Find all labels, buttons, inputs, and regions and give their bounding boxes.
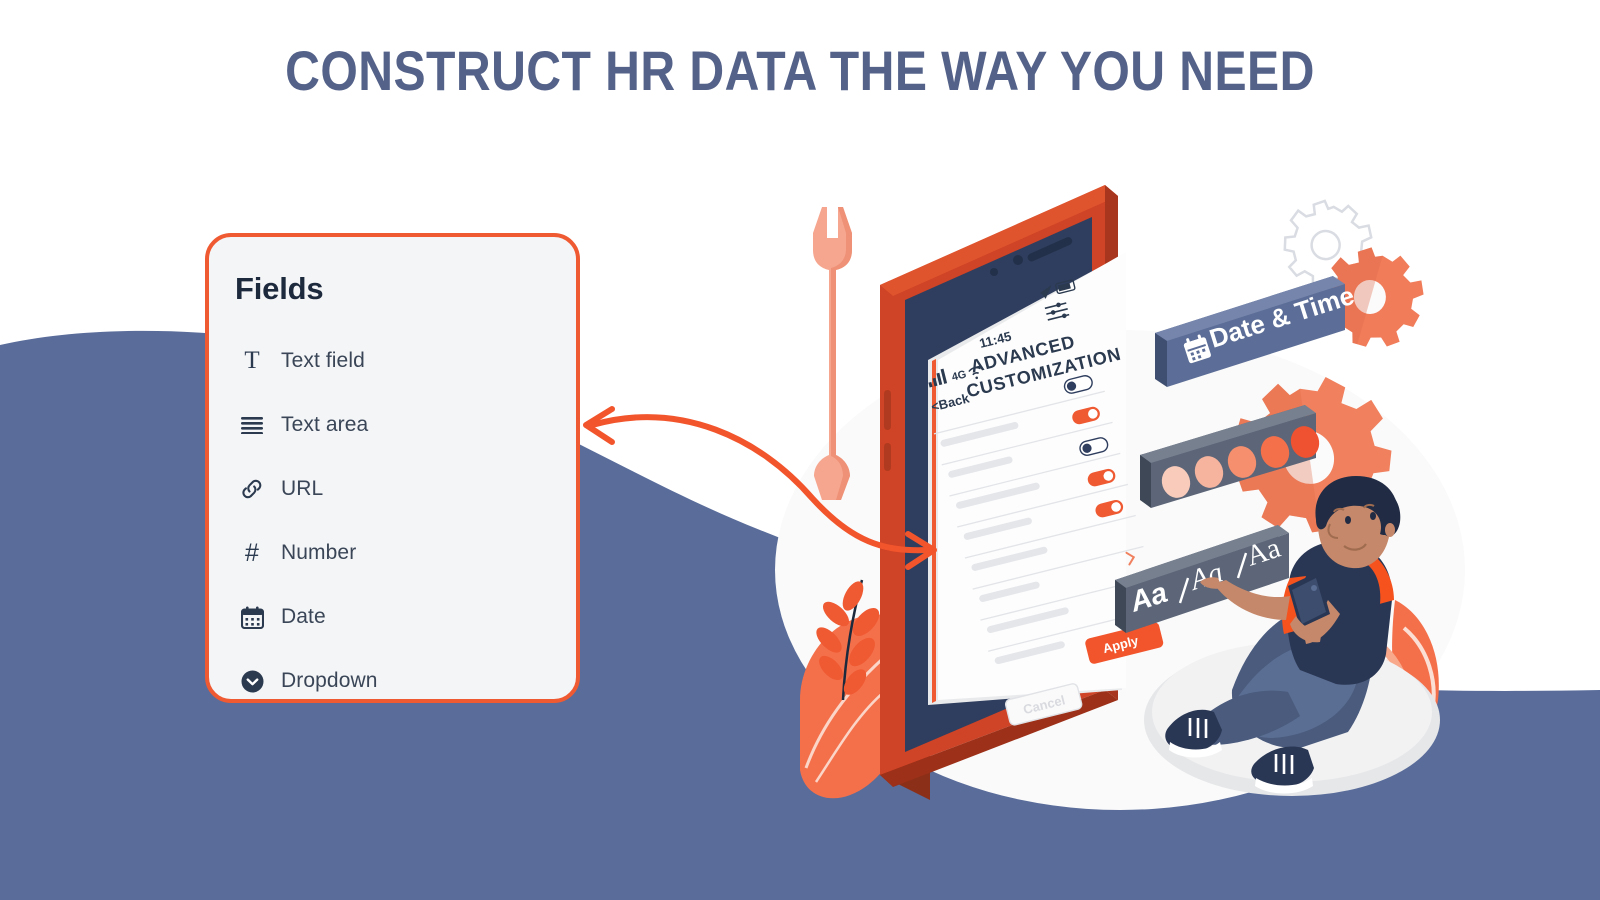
field-item-label: Dropdown — [281, 669, 378, 693]
field-item-url[interactable]: URL — [209, 457, 576, 521]
text-field-icon: T — [235, 347, 269, 375]
field-item-label: Number — [281, 541, 356, 565]
field-item-text-area[interactable]: Text area — [209, 393, 576, 457]
text-area-icon — [235, 416, 269, 434]
calendar-icon — [235, 606, 269, 629]
field-item-number[interactable]: # Number — [209, 521, 576, 585]
field-item-text-field[interactable]: T Text field — [209, 329, 576, 393]
fields-card-title: Fields — [209, 271, 576, 307]
field-item-dropdown[interactable]: Dropdown — [209, 649, 576, 713]
field-item-label: Text field — [281, 349, 365, 373]
poster-canvas: CONSTRUCT HR DATA THE WAY YOU NEED — [0, 0, 1600, 900]
eye — [1345, 516, 1351, 524]
chevron-down-circle-icon — [235, 670, 269, 693]
field-item-date[interactable]: Date — [209, 585, 576, 649]
fields-card[interactable]: Fields T Text field Text area — [205, 233, 580, 703]
link-icon — [235, 478, 269, 500]
field-item-label: Text area — [281, 413, 368, 437]
page-title: CONSTRUCT HR DATA THE WAY YOU NEED — [112, 38, 1488, 103]
field-item-label: URL — [281, 477, 323, 501]
number-hash-icon: # — [235, 539, 269, 568]
field-item-label: Date — [281, 605, 326, 629]
eye — [1370, 512, 1376, 520]
